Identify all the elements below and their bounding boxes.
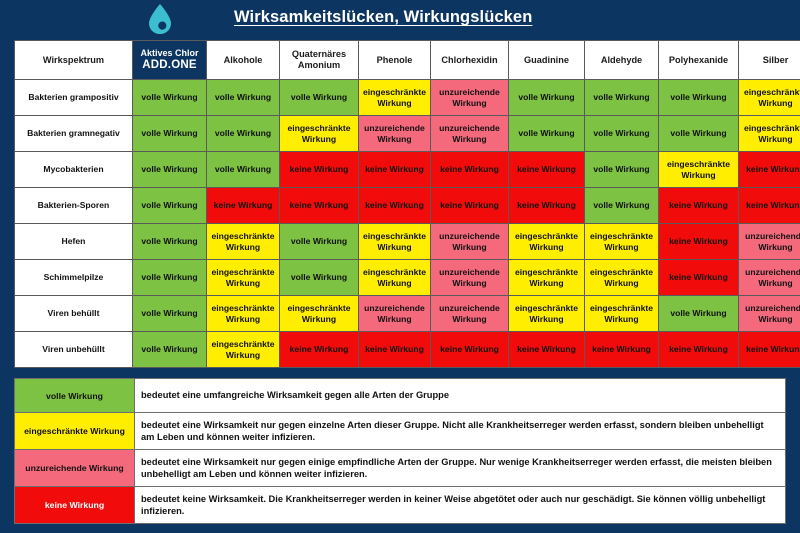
matrix-cell: eingeschränkte Wirkung bbox=[739, 116, 800, 152]
matrix-cell: eingeschränkte Wirkung bbox=[359, 260, 431, 296]
legend-description: bedeutet eine Wirksamkeit nur gegen einz… bbox=[135, 413, 786, 450]
legend-row: keine Wirkungbedeutet keine Wirksamkeit.… bbox=[15, 487, 786, 524]
matrix-cell: volle Wirkung bbox=[133, 260, 207, 296]
row-label: Bakterien grampositiv bbox=[15, 80, 133, 116]
matrix-cell: keine Wirkung bbox=[359, 152, 431, 188]
column-header-7: Aldehyde bbox=[585, 41, 659, 80]
column-header-9: Silber bbox=[739, 41, 800, 80]
matrix-cell: keine Wirkung bbox=[359, 332, 431, 368]
row-label: Viren unbehüllt bbox=[15, 332, 133, 368]
efficacy-matrix-container: WirkspektrumAktives ChlorADD.ONEAlkohole… bbox=[14, 40, 786, 368]
table-row: Viren unbehülltvolle Wirkungeingeschränk… bbox=[15, 332, 800, 368]
matrix-cell: keine Wirkung bbox=[739, 152, 800, 188]
matrix-cell: eingeschränkte Wirkung bbox=[585, 224, 659, 260]
matrix-cell: volle Wirkung bbox=[585, 80, 659, 116]
legend-row: volle Wirkungbedeutet eine umfangreiche … bbox=[15, 379, 786, 413]
title-bar: Wirksamkeitslücken, Wirkungslücken bbox=[0, 0, 800, 38]
matrix-cell: eingeschränkte Wirkung bbox=[585, 260, 659, 296]
water-droplet-icon bbox=[147, 3, 173, 40]
matrix-cell: volle Wirkung bbox=[585, 152, 659, 188]
matrix-cell: eingeschränkte Wirkung bbox=[359, 80, 431, 116]
column-header-2: Alkohole bbox=[207, 41, 280, 80]
matrix-cell: keine Wirkung bbox=[431, 152, 509, 188]
matrix-header-row: WirkspektrumAktives ChlorADD.ONEAlkohole… bbox=[15, 41, 800, 80]
legend-description: bedeutet eine Wirksamkeit nur gegen eini… bbox=[135, 450, 786, 487]
matrix-cell: eingeschränkte Wirkung bbox=[207, 296, 280, 332]
matrix-cell: volle Wirkung bbox=[659, 296, 739, 332]
matrix-cell: keine Wirkung bbox=[739, 188, 800, 224]
row-label: Bakterien-Sporen bbox=[15, 188, 133, 224]
matrix-cell: volle Wirkung bbox=[207, 152, 280, 188]
matrix-cell: volle Wirkung bbox=[133, 116, 207, 152]
matrix-body: Bakterien grampositivvolle Wirkungvolle … bbox=[15, 80, 800, 368]
matrix-cell: unzureichende Wirkung bbox=[431, 260, 509, 296]
matrix-cell: keine Wirkung bbox=[659, 224, 739, 260]
matrix-cell: eingeschränkte Wirkung bbox=[280, 296, 359, 332]
matrix-cell: eingeschränkte Wirkung bbox=[280, 116, 359, 152]
matrix-cell: keine Wirkung bbox=[659, 332, 739, 368]
matrix-cell: eingeschränkte Wirkung bbox=[509, 260, 585, 296]
legend-description: bedeutet eine umfangreiche Wirksamkeit g… bbox=[135, 379, 786, 413]
column-header-4: Phenole bbox=[359, 41, 431, 80]
matrix-cell: keine Wirkung bbox=[207, 188, 280, 224]
matrix-cell: volle Wirkung bbox=[280, 260, 359, 296]
legend-key-none: keine Wirkung bbox=[15, 487, 135, 524]
legend-key-limited: eingeschränkte Wirkung bbox=[15, 413, 135, 450]
matrix-cell: keine Wirkung bbox=[659, 260, 739, 296]
matrix-cell: volle Wirkung bbox=[509, 116, 585, 152]
matrix-cell: unzureichende Wirkung bbox=[431, 296, 509, 332]
legend-key-insufficient: unzureichende Wirkung bbox=[15, 450, 135, 487]
matrix-cell: keine Wirkung bbox=[739, 332, 800, 368]
row-label: Mycobakterien bbox=[15, 152, 133, 188]
legend-row: unzureichende Wirkungbedeutet eine Wirks… bbox=[15, 450, 786, 487]
column-header-5: Chlorhexidin bbox=[431, 41, 509, 80]
legend-key-full: volle Wirkung bbox=[15, 379, 135, 413]
matrix-cell: volle Wirkung bbox=[133, 224, 207, 260]
matrix-cell: volle Wirkung bbox=[585, 188, 659, 224]
matrix-cell: keine Wirkung bbox=[659, 188, 739, 224]
matrix-cell: eingeschränkte Wirkung bbox=[659, 152, 739, 188]
table-row: Bakterien grampositivvolle Wirkungvolle … bbox=[15, 80, 800, 116]
matrix-cell: eingeschränkte Wirkung bbox=[739, 80, 800, 116]
row-label: Schimmelpilze bbox=[15, 260, 133, 296]
matrix-cell: unzureichende Wirkung bbox=[359, 116, 431, 152]
matrix-cell: volle Wirkung bbox=[659, 80, 739, 116]
matrix-cell: volle Wirkung bbox=[585, 116, 659, 152]
matrix-cell: volle Wirkung bbox=[133, 80, 207, 116]
row-label: Bakterien gramnegativ bbox=[15, 116, 133, 152]
matrix-cell: unzureichende Wirkung bbox=[431, 116, 509, 152]
table-row: Schimmelpilzevolle Wirkungeingeschränkte… bbox=[15, 260, 800, 296]
matrix-cell: volle Wirkung bbox=[659, 116, 739, 152]
matrix-cell: eingeschränkte Wirkung bbox=[509, 296, 585, 332]
matrix-cell: volle Wirkung bbox=[133, 296, 207, 332]
matrix-cell: keine Wirkung bbox=[431, 188, 509, 224]
matrix-cell: volle Wirkung bbox=[207, 80, 280, 116]
matrix-cell: keine Wirkung bbox=[359, 188, 431, 224]
column-header-3: Quaternäres Amonium bbox=[280, 41, 359, 80]
legend-table: volle Wirkungbedeutet eine umfangreiche … bbox=[14, 378, 786, 524]
table-row: Viren behülltvolle Wirkungeingeschränkte… bbox=[15, 296, 800, 332]
matrix-cell: eingeschränkte Wirkung bbox=[509, 224, 585, 260]
page-title: Wirksamkeitslücken, Wirkungslücken bbox=[234, 8, 532, 27]
matrix-cell: volle Wirkung bbox=[280, 80, 359, 116]
efficacy-matrix: WirkspektrumAktives ChlorADD.ONEAlkohole… bbox=[14, 40, 800, 368]
column-header-8: Polyhexanide bbox=[659, 41, 739, 80]
row-label: Hefen bbox=[15, 224, 133, 260]
matrix-cell: keine Wirkung bbox=[509, 188, 585, 224]
matrix-cell: unzureichende Wirkung bbox=[359, 296, 431, 332]
matrix-cell: unzureichende Wirkung bbox=[739, 296, 800, 332]
column-header-brand: Aktives ChlorADD.ONE bbox=[133, 41, 207, 80]
column-header-0: Wirkspektrum bbox=[15, 41, 133, 80]
table-row: Bakterien-Sporenvolle Wirkungkeine Wirku… bbox=[15, 188, 800, 224]
matrix-cell: keine Wirkung bbox=[280, 188, 359, 224]
brand-line-2: ADD.ONE bbox=[134, 59, 205, 73]
matrix-cell: unzureichende Wirkung bbox=[431, 80, 509, 116]
legend-container: volle Wirkungbedeutet eine umfangreiche … bbox=[14, 378, 786, 524]
logo bbox=[140, 3, 180, 39]
matrix-cell: eingeschränkte Wirkung bbox=[207, 260, 280, 296]
matrix-cell: keine Wirkung bbox=[280, 332, 359, 368]
matrix-cell: keine Wirkung bbox=[431, 332, 509, 368]
row-label: Viren behüllt bbox=[15, 296, 133, 332]
column-header-6: Guadinine bbox=[509, 41, 585, 80]
matrix-cell: volle Wirkung bbox=[133, 152, 207, 188]
matrix-cell: eingeschränkte Wirkung bbox=[585, 296, 659, 332]
page-root: Wirksamkeitslücken, Wirkungslücken Wirks… bbox=[0, 0, 800, 533]
matrix-cell: volle Wirkung bbox=[509, 80, 585, 116]
matrix-cell: volle Wirkung bbox=[133, 188, 207, 224]
matrix-cell: volle Wirkung bbox=[133, 332, 207, 368]
matrix-cell: eingeschränkte Wirkung bbox=[207, 332, 280, 368]
matrix-cell: unzureichende Wirkung bbox=[739, 224, 800, 260]
table-row: Mycobakterienvolle Wirkungvolle Wirkungk… bbox=[15, 152, 800, 188]
table-row: Hefenvolle Wirkungeingeschränkte Wirkung… bbox=[15, 224, 800, 260]
matrix-cell: keine Wirkung bbox=[280, 152, 359, 188]
matrix-cell: keine Wirkung bbox=[509, 152, 585, 188]
matrix-cell: unzureichende Wirkung bbox=[739, 260, 800, 296]
matrix-cell: volle Wirkung bbox=[207, 116, 280, 152]
matrix-cell: eingeschränkte Wirkung bbox=[207, 224, 280, 260]
brand-line-1: Aktives Chlor bbox=[134, 48, 205, 59]
matrix-cell: volle Wirkung bbox=[280, 224, 359, 260]
matrix-cell: eingeschränkte Wirkung bbox=[359, 224, 431, 260]
legend-row: eingeschränkte Wirkungbedeutet eine Wirk… bbox=[15, 413, 786, 450]
matrix-cell: keine Wirkung bbox=[585, 332, 659, 368]
legend-description: bedeutet keine Wirksamkeit. Die Krankhei… bbox=[135, 487, 786, 524]
matrix-cell: keine Wirkung bbox=[509, 332, 585, 368]
matrix-cell: unzureichende Wirkung bbox=[431, 224, 509, 260]
table-row: Bakterien gramnegativvolle Wirkungvolle … bbox=[15, 116, 800, 152]
